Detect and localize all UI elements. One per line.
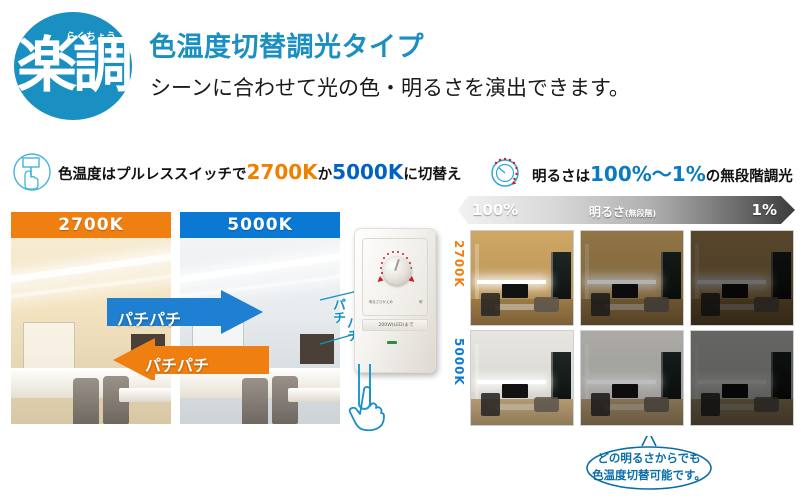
left-caption-kelvin-warm: 2700K (247, 160, 318, 184)
dining-table (119, 388, 171, 402)
left-section-caption: 色温度はプルレススイッチで2700Kか5000Kに切替え (12, 152, 461, 192)
switch-dial-panel[interactable]: 明るさひかえめ 明 (362, 238, 428, 316)
right-caption-pct-max: 100% (590, 162, 652, 186)
room-dim-overlay (581, 331, 683, 425)
thumbnail-cool-100 (470, 330, 574, 426)
dial-max-label: 明 (419, 299, 422, 304)
room-dim-overlay (691, 331, 793, 425)
gradient-label-min: 1% (752, 201, 777, 219)
right-caption-pre: 明るさは (532, 169, 590, 185)
row-label-2700k: 2700K (452, 240, 466, 288)
page-header: 楽調 らくちょう 色温度切替調光タイプ シーンに合わせて光の色・明るさを演出でき… (0, 0, 801, 132)
switch-direction-arrows: パチパチ パチパチ (103, 288, 273, 380)
room-header-5000k: 5000K (180, 212, 340, 238)
callout-line-1: どの明るさからでも (597, 451, 700, 465)
thumbnail-cool-50 (580, 330, 684, 426)
room-render (581, 331, 683, 425)
callout-text: どの明るさからでも 色温度切替可能です。 (556, 450, 742, 483)
gradient-center-main: 明るさ (589, 205, 625, 219)
right-caption-pct-min: 1% (672, 162, 706, 186)
thumbnail-row-2700k (470, 230, 795, 326)
left-caption-pre: 色温度はプルレススイッチで (58, 167, 247, 183)
thumbnail-warm-50 (580, 230, 684, 326)
right-caption-post: の無段階調光 (706, 169, 793, 185)
gradient-center-sup: (無段階) (625, 209, 656, 218)
room-render (581, 231, 683, 325)
thumbnail-warm-1 (690, 230, 794, 326)
thumbnail-warm-100 (470, 230, 574, 326)
switch-rating-text: 200W(LED)まで (363, 322, 429, 328)
switch-indicator-led (387, 341, 397, 344)
right-section-caption: 明るさは100%〜1%の無段階調光 (486, 152, 793, 192)
left-caption-text: 色温度はプルレススイッチで2700Kか5000Kに切替え (58, 160, 461, 184)
left-caption-post: に切替え (403, 167, 461, 183)
pull-switch-hand-icon (12, 152, 52, 192)
room-render (691, 331, 793, 425)
logo-kanji-text: 楽調 (14, 36, 132, 96)
wall-switch-illustration: パチ パチ 明るさひかえめ 明 (318, 228, 463, 428)
dining-chair-1 (73, 378, 99, 424)
dial-min-label: 明るさひかえめ (369, 299, 393, 304)
left-caption-kelvin-cool: 5000K (332, 160, 403, 184)
room-dim-overlay (471, 331, 573, 425)
thumbnail-row-5000k (470, 330, 795, 426)
arrow-label-to-cool: パチパチ (117, 306, 181, 330)
arrow-label-to-warm: パチパチ (145, 352, 209, 376)
pointing-hand-icon (338, 386, 400, 432)
page-title: 色温度切替調光タイプ (149, 25, 424, 64)
dining-chair-1 (242, 378, 268, 424)
room-dim-overlay (471, 231, 573, 325)
room-header-2700k: 2700K (11, 212, 171, 238)
callout-bubble: どの明るさからでも 色温度切替可能です。 (556, 436, 742, 492)
room-render (471, 331, 573, 425)
room-render (691, 231, 793, 325)
room-dim-overlay (691, 231, 793, 325)
callout-line-2: 色温度切替可能です。 (592, 468, 706, 482)
page-subtitle: シーンに合わせて光の色・明るさを演出できます。 (150, 72, 630, 102)
thumbnail-cool-1 (690, 330, 794, 426)
right-caption-tilde: 〜 (652, 162, 672, 186)
row-label-5000k: 5000K (452, 338, 466, 386)
left-caption-mid: か (318, 167, 333, 183)
room-render (471, 231, 573, 325)
right-caption-text: 明るさは100%〜1%の無段階調光 (532, 158, 793, 187)
rakucho-logo-badge: 楽調 らくちょう (14, 12, 132, 120)
room-dim-overlay (581, 231, 683, 325)
dimming-range-panel: 100% 明るさ(無段階) 1% 2700K 5000K (450, 196, 795, 432)
gradient-label-center: 明るさ(無段階) (450, 203, 795, 220)
switch-rating-band: 200W(LED)まで (362, 319, 428, 331)
rotary-dial-icon (486, 152, 526, 192)
switch-face-plate[interactable]: 明るさひかえめ 明 200W(LED)まで (354, 228, 436, 373)
